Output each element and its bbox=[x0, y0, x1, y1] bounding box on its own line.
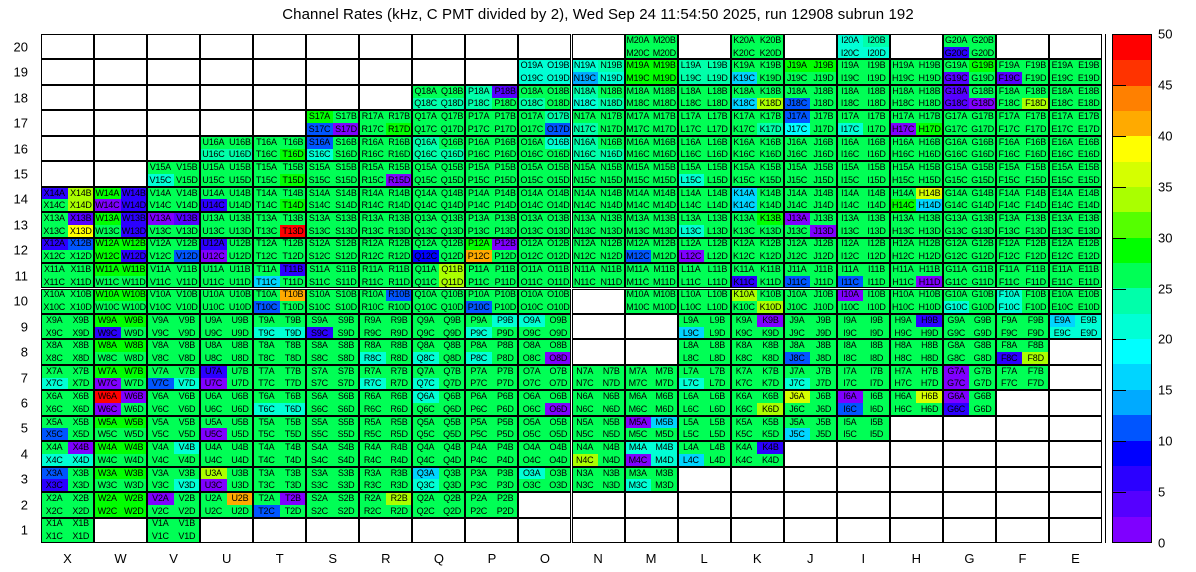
channel-cell-L4D[interactable]: L4D bbox=[704, 454, 731, 467]
channel-cell-Q13D[interactable]: Q13D bbox=[439, 225, 466, 238]
channel-cell-L16C[interactable]: L16C bbox=[678, 149, 705, 162]
channel-cell-V9A[interactable]: V9A bbox=[147, 314, 174, 327]
channel-cell-H16C[interactable]: H16C bbox=[890, 149, 917, 162]
channel-cell-F17A[interactable]: F17A bbox=[996, 110, 1023, 123]
channel-cell-K20B[interactable]: K20B bbox=[757, 34, 784, 47]
channel-cell-N12D[interactable]: N12D bbox=[598, 250, 625, 263]
channel-cell-I19A[interactable]: I19A bbox=[837, 59, 864, 72]
channel-cell-S2D[interactable]: S2D bbox=[333, 505, 360, 518]
channel-cell-R13B[interactable]: R13B bbox=[386, 212, 413, 225]
channel-cell-S8C[interactable]: S8C bbox=[306, 352, 333, 365]
channel-cell-L11D[interactable]: L11D bbox=[704, 276, 731, 289]
channel-cell-U13A[interactable]: U13A bbox=[200, 212, 227, 225]
channel-cell-V14A[interactable]: V14A bbox=[147, 187, 174, 200]
channel-cell-L5D[interactable]: L5D bbox=[704, 428, 731, 441]
channel-cell-P18A[interactable]: P18A bbox=[465, 85, 492, 98]
channel-cell-M14C[interactable]: M14C bbox=[625, 199, 652, 212]
channel-cell-Q2D[interactable]: Q2D bbox=[439, 505, 466, 518]
channel-cell-K7B[interactable]: K7B bbox=[757, 365, 784, 378]
channel-cell-J10A[interactable]: J10A bbox=[784, 289, 811, 302]
channel-cell-P17D[interactable]: P17D bbox=[492, 123, 519, 136]
channel-cell-T7A[interactable]: T7A bbox=[253, 365, 280, 378]
channel-cell-O6D[interactable]: O6D bbox=[545, 403, 572, 416]
channel-cell-E15B[interactable]: E15B bbox=[1075, 161, 1102, 174]
channel-cell-P10A[interactable]: P10A bbox=[465, 289, 492, 302]
channel-cell-M17B[interactable]: M17B bbox=[651, 110, 678, 123]
channel-cell-M6C[interactable]: M6C bbox=[625, 403, 652, 416]
channel-cell-O5C[interactable]: O5C bbox=[518, 428, 545, 441]
channel-cell-H7D[interactable]: H7D bbox=[916, 378, 943, 391]
channel-cell-O8D[interactable]: O8D bbox=[545, 352, 572, 365]
channel-cell-N14A[interactable]: N14A bbox=[572, 187, 599, 200]
channel-cell-R10D[interactable]: R10D bbox=[386, 301, 413, 314]
channel-cell-S11B[interactable]: S11B bbox=[333, 263, 360, 276]
channel-cell-M11B[interactable]: M11B bbox=[651, 263, 678, 276]
channel-cell-W8B[interactable]: W8B bbox=[121, 339, 148, 352]
channel-cell-F11A[interactable]: F11A bbox=[996, 263, 1023, 276]
channel-cell-K12B[interactable]: K12B bbox=[757, 238, 784, 251]
channel-cell-I7C[interactable]: I7C bbox=[837, 378, 864, 391]
channel-cell-W13B[interactable]: W13B bbox=[121, 212, 148, 225]
channel-cell-F10B[interactable]: F10B bbox=[1022, 289, 1049, 302]
channel-cell-T2A[interactable]: T2A bbox=[253, 492, 280, 505]
channel-cell-F12C[interactable]: F12C bbox=[996, 250, 1023, 263]
channel-cell-H19A[interactable]: H19A bbox=[890, 59, 917, 72]
channel-cell-G10A[interactable]: G10A bbox=[943, 289, 970, 302]
channel-cell-W10C[interactable]: W10C bbox=[94, 301, 121, 314]
channel-cell-T5A[interactable]: T5A bbox=[253, 416, 280, 429]
channel-cell-O3C[interactable]: O3C bbox=[518, 479, 545, 492]
channel-cell-K18C[interactable]: K18C bbox=[731, 98, 758, 111]
channel-cell-X6A[interactable]: X6A bbox=[41, 390, 68, 403]
channel-cell-T14B[interactable]: T14B bbox=[280, 187, 307, 200]
channel-cell-X6B[interactable]: X6B bbox=[68, 390, 95, 403]
channel-cell-L14C[interactable]: L14C bbox=[678, 199, 705, 212]
channel-cell-J19D[interactable]: J19D bbox=[810, 72, 837, 85]
channel-cell-X7D[interactable]: X7D bbox=[68, 378, 95, 391]
channel-cell-S5B[interactable]: S5B bbox=[333, 416, 360, 429]
channel-cell-R4A[interactable]: R4A bbox=[359, 441, 386, 454]
channel-cell-O9B[interactable]: O9B bbox=[545, 314, 572, 327]
channel-cell-E14A[interactable]: E14A bbox=[1049, 187, 1076, 200]
channel-cell-G14A[interactable]: G14A bbox=[943, 187, 970, 200]
channel-cell-L13C[interactable]: L13C bbox=[678, 225, 705, 238]
channel-cell-G11D[interactable]: G11D bbox=[969, 276, 996, 289]
channel-cell-Q16D[interactable]: Q16D bbox=[439, 149, 466, 162]
channel-cell-I11C[interactable]: I11C bbox=[837, 276, 864, 289]
channel-cell-L5A[interactable]: L5A bbox=[678, 416, 705, 429]
channel-cell-L12A[interactable]: L12A bbox=[678, 238, 705, 251]
channel-cell-P16C[interactable]: P16C bbox=[465, 149, 492, 162]
channel-cell-Q15B[interactable]: Q15B bbox=[439, 161, 466, 174]
channel-cell-E12A[interactable]: E12A bbox=[1049, 238, 1076, 251]
channel-cell-U5A[interactable]: U5A bbox=[200, 416, 227, 429]
channel-cell-X3D[interactable]: X3D bbox=[68, 479, 95, 492]
channel-cell-R13C[interactable]: R13C bbox=[359, 225, 386, 238]
channel-cell-J19A[interactable]: J19A bbox=[784, 59, 811, 72]
channel-cell-U12D[interactable]: U12D bbox=[227, 250, 254, 263]
channel-cell-T14C[interactable]: T14C bbox=[253, 199, 280, 212]
channel-cell-H9A[interactable]: H9A bbox=[890, 314, 917, 327]
channel-cell-S14D[interactable]: S14D bbox=[333, 199, 360, 212]
channel-cell-J16A[interactable]: J16A bbox=[784, 136, 811, 149]
channel-cell-S14C[interactable]: S14C bbox=[306, 199, 333, 212]
channel-cell-I13B[interactable]: I13B bbox=[863, 212, 890, 225]
channel-cell-G17B[interactable]: G17B bbox=[969, 110, 996, 123]
channel-cell-Q10A[interactable]: Q10A bbox=[412, 289, 439, 302]
channel-cell-I18A[interactable]: I18A bbox=[837, 85, 864, 98]
channel-cell-O3D[interactable]: O3D bbox=[545, 479, 572, 492]
channel-cell-O10D[interactable]: O10D bbox=[545, 301, 572, 314]
channel-cell-P10C[interactable]: P10C bbox=[465, 301, 492, 314]
channel-cell-L14A[interactable]: L14A bbox=[678, 187, 705, 200]
channel-cell-P2C[interactable]: P2C bbox=[465, 505, 492, 518]
channel-cell-K11A[interactable]: K11A bbox=[731, 263, 758, 276]
channel-cell-H6B[interactable]: H6B bbox=[916, 390, 943, 403]
channel-cell-G7C[interactable]: G7C bbox=[943, 378, 970, 391]
channel-cell-Q16A[interactable]: Q16A bbox=[412, 136, 439, 149]
channel-cell-L8D[interactable]: L8D bbox=[704, 352, 731, 365]
channel-cell-Q17B[interactable]: Q17B bbox=[439, 110, 466, 123]
channel-cell-J5B[interactable]: J5B bbox=[810, 416, 837, 429]
channel-cell-W14C[interactable]: W14C bbox=[94, 199, 121, 212]
channel-cell-R5D[interactable]: R5D bbox=[386, 428, 413, 441]
channel-cell-S16D[interactable]: S16D bbox=[333, 149, 360, 162]
channel-cell-H17D[interactable]: H17D bbox=[916, 123, 943, 136]
channel-cell-H6D[interactable]: H6D bbox=[916, 403, 943, 416]
channel-cell-I5B[interactable]: I5B bbox=[863, 416, 890, 429]
channel-cell-E17B[interactable]: E17B bbox=[1075, 110, 1102, 123]
channel-cell-U8A[interactable]: U8A bbox=[200, 339, 227, 352]
channel-cell-X5D[interactable]: X5D bbox=[68, 428, 95, 441]
channel-cell-K15A[interactable]: K15A bbox=[731, 161, 758, 174]
channel-cell-W11A[interactable]: W11A bbox=[94, 263, 121, 276]
channel-cell-J19B[interactable]: J19B bbox=[810, 59, 837, 72]
channel-cell-G18D[interactable]: G18D bbox=[969, 98, 996, 111]
channel-cell-J18C[interactable]: J18C bbox=[784, 98, 811, 111]
channel-cell-M10D[interactable]: M10D bbox=[651, 301, 678, 314]
channel-cell-J7C[interactable]: J7C bbox=[784, 378, 811, 391]
channel-cell-O6C[interactable]: O6C bbox=[518, 403, 545, 416]
channel-cell-P3B[interactable]: P3B bbox=[492, 467, 519, 480]
channel-cell-S11C[interactable]: S11C bbox=[306, 276, 333, 289]
channel-cell-Q8A[interactable]: Q8A bbox=[412, 339, 439, 352]
channel-cell-H17C[interactable]: H17C bbox=[890, 123, 917, 136]
channel-cell-P17B[interactable]: P17B bbox=[492, 110, 519, 123]
channel-cell-H6C[interactable]: H6C bbox=[890, 403, 917, 416]
channel-cell-W4A[interactable]: W4A bbox=[94, 441, 121, 454]
channel-cell-J16D[interactable]: J16D bbox=[810, 149, 837, 162]
channel-cell-M13B[interactable]: M13B bbox=[651, 212, 678, 225]
channel-cell-N7C[interactable]: N7C bbox=[572, 378, 599, 391]
channel-cell-T16D[interactable]: T16D bbox=[280, 149, 307, 162]
channel-cell-Q2B[interactable]: Q2B bbox=[439, 492, 466, 505]
channel-cell-V5C[interactable]: V5C bbox=[147, 428, 174, 441]
channel-cell-V1B[interactable]: V1B bbox=[174, 518, 201, 531]
channel-cell-Q10C[interactable]: Q10C bbox=[412, 301, 439, 314]
channel-cell-T5D[interactable]: T5D bbox=[280, 428, 307, 441]
channel-cell-N4B[interactable]: N4B bbox=[598, 441, 625, 454]
channel-cell-U10D[interactable]: U10D bbox=[227, 301, 254, 314]
channel-cell-P4D[interactable]: P4D bbox=[492, 454, 519, 467]
channel-cell-L14B[interactable]: L14B bbox=[704, 187, 731, 200]
channel-cell-L18A[interactable]: L18A bbox=[678, 85, 705, 98]
channel-cell-P11B[interactable]: P11B bbox=[492, 263, 519, 276]
channel-cell-O17B[interactable]: O17B bbox=[545, 110, 572, 123]
channel-cell-V15B[interactable]: V15B bbox=[174, 161, 201, 174]
channel-cell-J18B[interactable]: J18B bbox=[810, 85, 837, 98]
channel-cell-I20A[interactable]: I20A bbox=[837, 34, 864, 47]
channel-cell-F19C[interactable]: F19C bbox=[996, 72, 1023, 85]
channel-cell-J18A[interactable]: J18A bbox=[784, 85, 811, 98]
channel-cell-P8B[interactable]: P8B bbox=[492, 339, 519, 352]
channel-cell-F16C[interactable]: F16C bbox=[996, 149, 1023, 162]
channel-cell-T15B[interactable]: T15B bbox=[280, 161, 307, 174]
channel-cell-H7B[interactable]: H7B bbox=[916, 365, 943, 378]
channel-cell-H12C[interactable]: H12C bbox=[890, 250, 917, 263]
channel-cell-S7A[interactable]: S7A bbox=[306, 365, 333, 378]
channel-cell-V13D[interactable]: V13D bbox=[174, 225, 201, 238]
channel-cell-L13A[interactable]: L13A bbox=[678, 212, 705, 225]
channel-cell-U4A[interactable]: U4A bbox=[200, 441, 227, 454]
channel-cell-L16D[interactable]: L16D bbox=[704, 149, 731, 162]
channel-cell-U15C[interactable]: U15C bbox=[200, 174, 227, 187]
channel-cell-O10A[interactable]: O10A bbox=[518, 289, 545, 302]
channel-cell-T13D[interactable]: T13D bbox=[280, 225, 307, 238]
channel-cell-L6A[interactable]: L6A bbox=[678, 390, 705, 403]
channel-cell-Q14C[interactable]: Q14C bbox=[412, 199, 439, 212]
channel-cell-S5D[interactable]: S5D bbox=[333, 428, 360, 441]
channel-cell-J12C[interactable]: J12C bbox=[784, 250, 811, 263]
channel-cell-G18C[interactable]: G18C bbox=[943, 98, 970, 111]
channel-cell-N16D[interactable]: N16D bbox=[598, 149, 625, 162]
channel-cell-G14D[interactable]: G14D bbox=[969, 199, 996, 212]
channel-cell-K9A[interactable]: K9A bbox=[731, 314, 758, 327]
channel-cell-U3A[interactable]: U3A bbox=[200, 467, 227, 480]
channel-cell-K16C[interactable]: K16C bbox=[731, 149, 758, 162]
channel-cell-T9D[interactable]: T9D bbox=[280, 327, 307, 340]
channel-cell-U11A[interactable]: U11A bbox=[200, 263, 227, 276]
channel-cell-V8B[interactable]: V8B bbox=[174, 339, 201, 352]
channel-cell-O17A[interactable]: O17A bbox=[518, 110, 545, 123]
channel-cell-F19D[interactable]: F19D bbox=[1022, 72, 1049, 85]
channel-cell-S3B[interactable]: S3B bbox=[333, 467, 360, 480]
channel-cell-P18D[interactable]: P18D bbox=[492, 98, 519, 111]
channel-cell-L11B[interactable]: L11B bbox=[704, 263, 731, 276]
channel-cell-O5B[interactable]: O5B bbox=[545, 416, 572, 429]
channel-cell-L9B[interactable]: L9B bbox=[704, 314, 731, 327]
channel-cell-M18D[interactable]: M18D bbox=[651, 98, 678, 111]
channel-cell-P11A[interactable]: P11A bbox=[465, 263, 492, 276]
channel-cell-I17B[interactable]: I17B bbox=[863, 110, 890, 123]
channel-cell-X8D[interactable]: X8D bbox=[68, 352, 95, 365]
channel-cell-F7D[interactable]: F7D bbox=[1022, 378, 1049, 391]
channel-cell-L10B[interactable]: L10B bbox=[704, 289, 731, 302]
channel-cell-P7C[interactable]: P7C bbox=[465, 378, 492, 391]
channel-cell-G11A[interactable]: G11A bbox=[943, 263, 970, 276]
channel-cell-G15B[interactable]: G15B bbox=[969, 161, 996, 174]
channel-cell-O8C[interactable]: O8C bbox=[518, 352, 545, 365]
channel-cell-F15B[interactable]: F15B bbox=[1022, 161, 1049, 174]
channel-cell-L9A[interactable]: L9A bbox=[678, 314, 705, 327]
channel-cell-R4C[interactable]: R4C bbox=[359, 454, 386, 467]
channel-cell-U5B[interactable]: U5B bbox=[227, 416, 254, 429]
channel-cell-T15A[interactable]: T15A bbox=[253, 161, 280, 174]
channel-cell-F8D[interactable]: F8D bbox=[1022, 352, 1049, 365]
channel-cell-E9B[interactable]: E9B bbox=[1075, 314, 1102, 327]
channel-cell-I8A[interactable]: I8A bbox=[837, 339, 864, 352]
channel-cell-H14C[interactable]: H14C bbox=[890, 199, 917, 212]
channel-cell-H15C[interactable]: H15C bbox=[890, 174, 917, 187]
channel-cell-K14D[interactable]: K14D bbox=[757, 199, 784, 212]
channel-cell-K5A[interactable]: K5A bbox=[731, 416, 758, 429]
channel-cell-U9B[interactable]: U9B bbox=[227, 314, 254, 327]
channel-cell-M19B[interactable]: M19B bbox=[651, 59, 678, 72]
channel-cell-K16B[interactable]: K16B bbox=[757, 136, 784, 149]
channel-cell-I10B[interactable]: I10B bbox=[863, 289, 890, 302]
channel-cell-V9D[interactable]: V9D bbox=[174, 327, 201, 340]
channel-cell-Q7B[interactable]: Q7B bbox=[439, 365, 466, 378]
channel-cell-K5D[interactable]: K5D bbox=[757, 428, 784, 441]
channel-cell-O7C[interactable]: O7C bbox=[518, 378, 545, 391]
channel-cell-M15A[interactable]: M15A bbox=[625, 161, 652, 174]
channel-cell-P5D[interactable]: P5D bbox=[492, 428, 519, 441]
channel-cell-V13B[interactable]: V13B bbox=[174, 212, 201, 225]
channel-cell-I20B[interactable]: I20B bbox=[863, 34, 890, 47]
channel-cell-W14B[interactable]: W14B bbox=[121, 187, 148, 200]
channel-cell-I13D[interactable]: I13D bbox=[863, 225, 890, 238]
channel-cell-F8B[interactable]: F8B bbox=[1022, 339, 1049, 352]
channel-cell-N6A[interactable]: N6A bbox=[572, 390, 599, 403]
channel-cell-R3C[interactable]: R3C bbox=[359, 479, 386, 492]
channel-cell-J6A[interactable]: J6A bbox=[784, 390, 811, 403]
channel-cell-P12C[interactable]: P12C bbox=[465, 250, 492, 263]
channel-cell-N15D[interactable]: N15D bbox=[598, 174, 625, 187]
channel-cell-K10A[interactable]: K10A bbox=[731, 289, 758, 302]
channel-cell-I13C[interactable]: I13C bbox=[837, 225, 864, 238]
channel-cell-U8D[interactable]: U8D bbox=[227, 352, 254, 365]
channel-cell-I18D[interactable]: I18D bbox=[863, 98, 890, 111]
channel-cell-K18A[interactable]: K18A bbox=[731, 85, 758, 98]
channel-cell-Q3D[interactable]: Q3D bbox=[439, 479, 466, 492]
channel-cell-R16C[interactable]: R16C bbox=[359, 149, 386, 162]
channel-cell-M20B[interactable]: M20B bbox=[651, 34, 678, 47]
channel-cell-V6D[interactable]: V6D bbox=[174, 403, 201, 416]
channel-cell-I9B[interactable]: I9B bbox=[863, 314, 890, 327]
channel-cell-P13D[interactable]: P13D bbox=[492, 225, 519, 238]
channel-cell-U6A[interactable]: U6A bbox=[200, 390, 227, 403]
channel-cell-N13D[interactable]: N13D bbox=[598, 225, 625, 238]
channel-cell-Q13B[interactable]: Q13B bbox=[439, 212, 466, 225]
channel-cell-F18B[interactable]: F18B bbox=[1022, 85, 1049, 98]
channel-cell-W2A[interactable]: W2A bbox=[94, 492, 121, 505]
channel-cell-R6B[interactable]: R6B bbox=[386, 390, 413, 403]
channel-cell-X2C[interactable]: X2C bbox=[41, 505, 68, 518]
channel-cell-W12D[interactable]: W12D bbox=[121, 250, 148, 263]
channel-cell-X6D[interactable]: X6D bbox=[68, 403, 95, 416]
channel-cell-X4D[interactable]: X4D bbox=[68, 454, 95, 467]
channel-cell-Q6D[interactable]: Q6D bbox=[439, 403, 466, 416]
channel-cell-M7B[interactable]: M7B bbox=[651, 365, 678, 378]
channel-cell-E19D[interactable]: E19D bbox=[1075, 72, 1102, 85]
channel-cell-R8D[interactable]: R8D bbox=[386, 352, 413, 365]
channel-cell-H16D[interactable]: H16D bbox=[916, 149, 943, 162]
channel-cell-K4C[interactable]: K4C bbox=[731, 454, 758, 467]
channel-cell-M11A[interactable]: M11A bbox=[625, 263, 652, 276]
channel-cell-H11B[interactable]: H11B bbox=[916, 263, 943, 276]
channel-cell-H14B[interactable]: H14B bbox=[916, 187, 943, 200]
channel-cell-V7C[interactable]: V7C bbox=[147, 378, 174, 391]
channel-cell-O5A[interactable]: O5A bbox=[518, 416, 545, 429]
channel-cell-I16B[interactable]: I16B bbox=[863, 136, 890, 149]
channel-cell-F12D[interactable]: F12D bbox=[1022, 250, 1049, 263]
channel-cell-Q6C[interactable]: Q6C bbox=[412, 403, 439, 416]
channel-cell-V11C[interactable]: V11C bbox=[147, 276, 174, 289]
channel-cell-I14C[interactable]: I14C bbox=[837, 199, 864, 212]
channel-cell-W8A[interactable]: W8A bbox=[94, 339, 121, 352]
channel-cell-E18C[interactable]: E18C bbox=[1049, 98, 1076, 111]
channel-cell-V14D[interactable]: V14D bbox=[174, 199, 201, 212]
channel-cell-E12C[interactable]: E12C bbox=[1049, 250, 1076, 263]
channel-cell-L6B[interactable]: L6B bbox=[704, 390, 731, 403]
channel-cell-I14B[interactable]: I14B bbox=[863, 187, 890, 200]
channel-cell-T3C[interactable]: T3C bbox=[253, 479, 280, 492]
channel-cell-K5B[interactable]: K5B bbox=[757, 416, 784, 429]
channel-cell-O10C[interactable]: O10C bbox=[518, 301, 545, 314]
channel-cell-S16C[interactable]: S16C bbox=[306, 149, 333, 162]
channel-cell-Q4A[interactable]: Q4A bbox=[412, 441, 439, 454]
channel-cell-L7D[interactable]: L7D bbox=[704, 378, 731, 391]
channel-cell-N12B[interactable]: N12B bbox=[598, 238, 625, 251]
channel-cell-P6C[interactable]: P6C bbox=[465, 403, 492, 416]
channel-cell-O3A[interactable]: O3A bbox=[518, 467, 545, 480]
channel-cell-O9D[interactable]: O9D bbox=[545, 327, 572, 340]
channel-cell-P7A[interactable]: P7A bbox=[465, 365, 492, 378]
channel-cell-J7A[interactable]: J7A bbox=[784, 365, 811, 378]
channel-cell-J13C[interactable]: J13C bbox=[784, 225, 811, 238]
channel-cell-V10B[interactable]: V10B bbox=[174, 289, 201, 302]
channel-cell-K13B[interactable]: K13B bbox=[757, 212, 784, 225]
channel-cell-W10A[interactable]: W10A bbox=[94, 289, 121, 302]
channel-cell-E17D[interactable]: E17D bbox=[1075, 123, 1102, 136]
channel-cell-J8A[interactable]: J8A bbox=[784, 339, 811, 352]
channel-cell-M10A[interactable]: M10A bbox=[625, 289, 652, 302]
channel-cell-V15D[interactable]: V15D bbox=[174, 174, 201, 187]
channel-cell-J9D[interactable]: J9D bbox=[810, 327, 837, 340]
channel-cell-I14A[interactable]: I14A bbox=[837, 187, 864, 200]
channel-cell-T10B[interactable]: T10B bbox=[280, 289, 307, 302]
channel-cell-E10A[interactable]: E10A bbox=[1049, 289, 1076, 302]
channel-cell-G6C[interactable]: G6C bbox=[943, 403, 970, 416]
channel-cell-X13D[interactable]: X13D bbox=[68, 225, 95, 238]
channel-cell-R16D[interactable]: R16D bbox=[386, 149, 413, 162]
channel-cell-G10C[interactable]: G10C bbox=[943, 301, 970, 314]
channel-cell-U8B[interactable]: U8B bbox=[227, 339, 254, 352]
channel-cell-U14C[interactable]: U14C bbox=[200, 199, 227, 212]
channel-cell-X10C[interactable]: X10C bbox=[41, 301, 68, 314]
channel-cell-X2A[interactable]: X2A bbox=[41, 492, 68, 505]
channel-cell-L18D[interactable]: L18D bbox=[704, 98, 731, 111]
channel-cell-O11A[interactable]: O11A bbox=[518, 263, 545, 276]
channel-cell-X9C[interactable]: X9C bbox=[41, 327, 68, 340]
channel-cell-Q11B[interactable]: Q11B bbox=[439, 263, 466, 276]
channel-cell-F8A[interactable]: F8A bbox=[996, 339, 1023, 352]
channel-cell-V8A[interactable]: V8A bbox=[147, 339, 174, 352]
channel-cell-O4B[interactable]: O4B bbox=[545, 441, 572, 454]
channel-cell-I9A[interactable]: I9A bbox=[837, 314, 864, 327]
channel-cell-P5B[interactable]: P5B bbox=[492, 416, 519, 429]
channel-cell-N19D[interactable]: N19D bbox=[598, 72, 625, 85]
